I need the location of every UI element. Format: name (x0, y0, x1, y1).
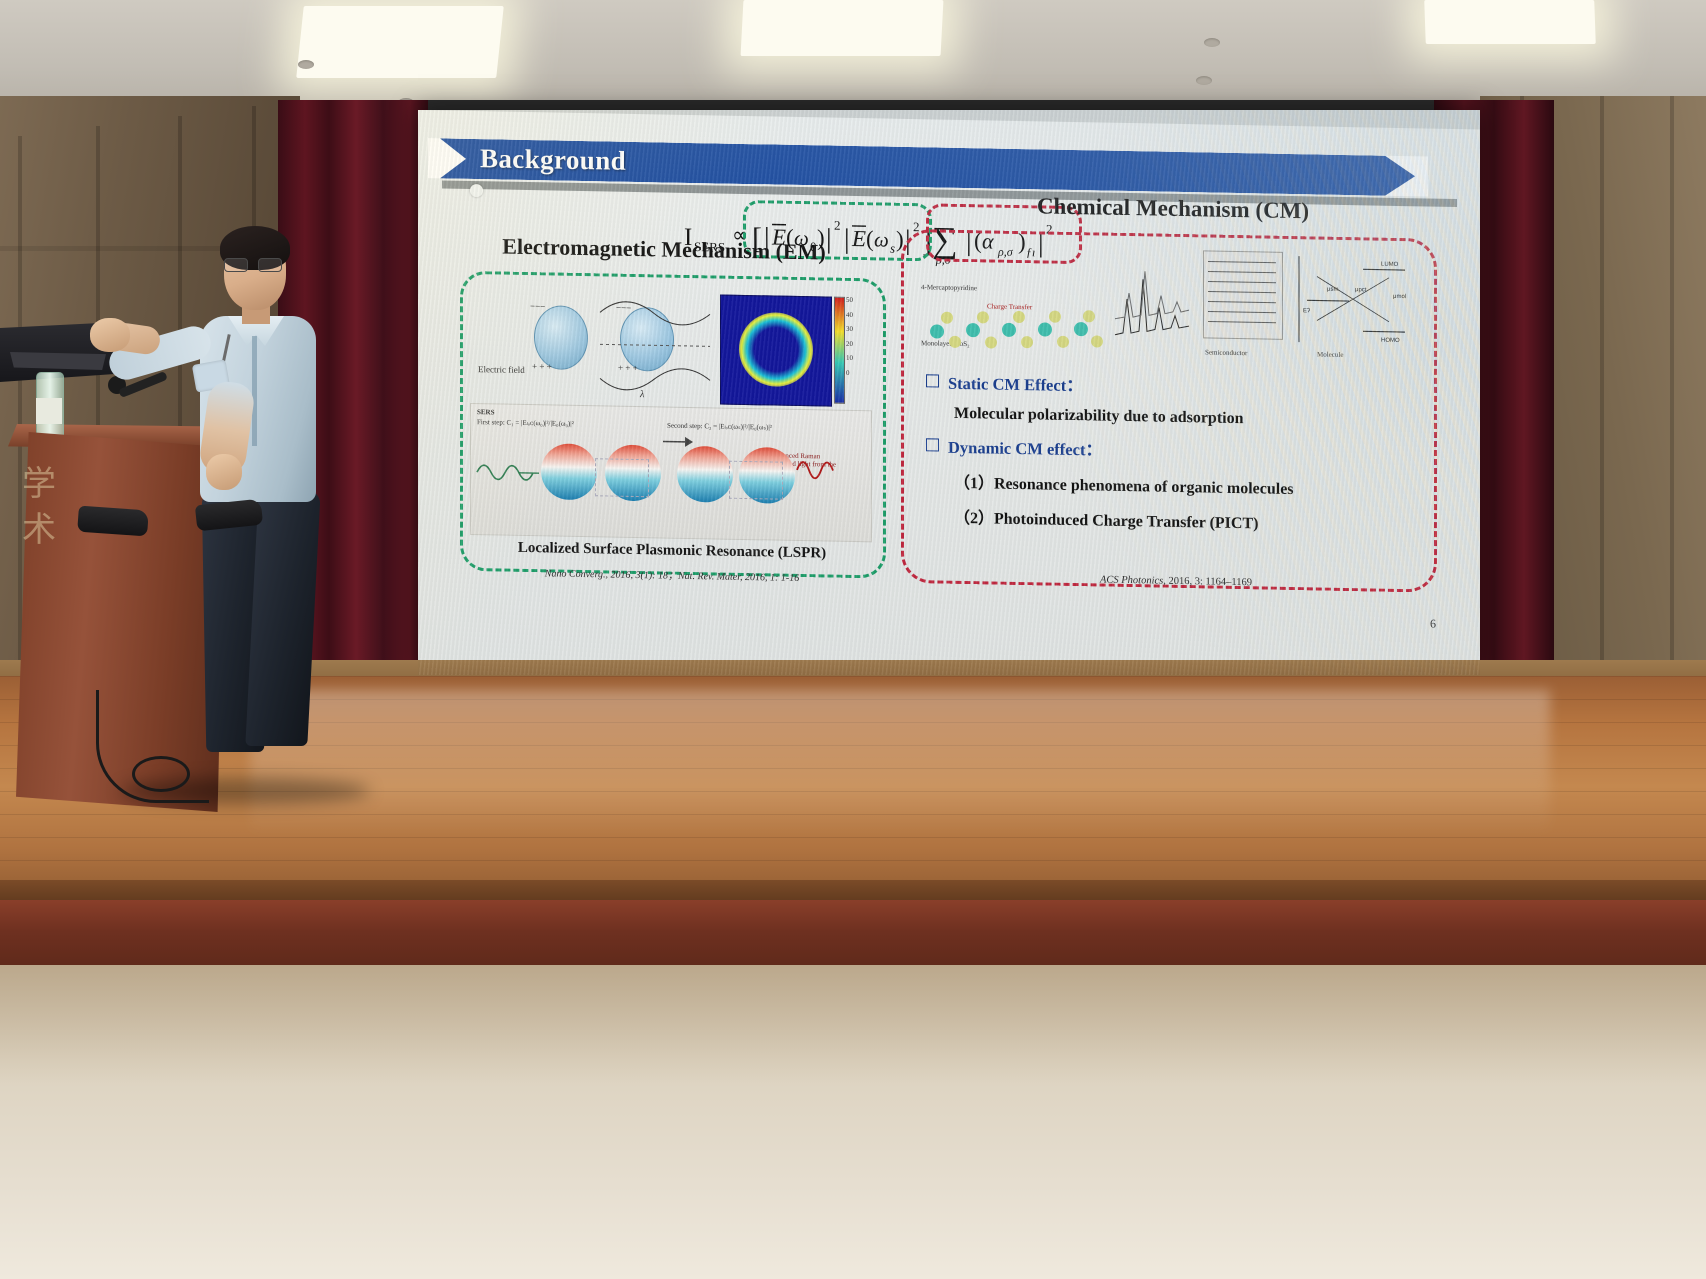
presenter-right-hand (206, 454, 242, 490)
presentation-slide: Background I SERS ∝ [ | E ( ω 0 ) (418, 110, 1480, 675)
svg-text:μsm: μsm (1327, 287, 1338, 293)
ceiling-light (741, 0, 944, 56)
cm-reference-detail: , 2016, 3: 1164–1169 (1163, 576, 1252, 589)
device-schematic (1203, 250, 1283, 339)
presenter-glasses (224, 258, 286, 271)
field-heatmap (720, 295, 832, 407)
svg-text:Eʔ: Eʔ (1303, 308, 1310, 314)
molecule-label: Molecule (1317, 350, 1343, 358)
first-step-label: First step: C₁ = |Eₗₒᴄ(ω₀)|²/|E₀(ω₀)|² (477, 418, 574, 428)
em-figure-two-step-enhancement: SERS First step: C₁ = |Eₗₒᴄ(ω₀)|²/|E₀(ω₀… (470, 403, 872, 542)
presenter-shoe (77, 506, 149, 537)
field-wave (598, 292, 718, 394)
energy-level-diagram: LUMO HOMO Eʔ μsm μpct μmol (1293, 250, 1418, 348)
heatmap-colorbar (834, 297, 845, 404)
cm-bullet-list: Static CM Effect： Molecular polarizabili… (926, 369, 1426, 547)
semiconductor-label: Semiconductor (1205, 348, 1247, 357)
bullet-dynamic-item-1: （1）Resonance phenomena of organic molecu… (954, 469, 1426, 502)
cm-figure-group: 4-Mercaptopyridine Charge Transfer Monol… (913, 239, 1423, 373)
ceiling-spotlight (298, 60, 314, 69)
svg-text:μmol: μmol (1393, 294, 1406, 300)
checkbox-icon (926, 438, 939, 451)
conference-room-photo: Background I SERS ∝ [ | E ( ω 0 ) (0, 0, 1706, 1279)
bullet-dynamic-cm: Dynamic CM effect： (926, 433, 1426, 466)
water-bottle-label (36, 398, 62, 424)
ceiling-spotlight (1196, 76, 1212, 85)
audience-floor-shading (0, 965, 1706, 1085)
incident-wave (475, 448, 541, 497)
raman-spectrum-thumbnail (1113, 249, 1191, 340)
slide-page-number: 6 (1430, 617, 1436, 632)
stage-floor-reflection (250, 690, 1550, 900)
electric-field-label: Electric field (478, 364, 525, 375)
svg-text:HOMO: HOMO (1381, 338, 1400, 344)
wavelength-label: λ (640, 389, 644, 400)
presenter-shirt-placket (252, 336, 257, 446)
presenter-legs (204, 490, 324, 760)
floor-cable-loop (132, 756, 190, 792)
colorbar-tick-labels: 50403020100 (846, 293, 853, 380)
header-dot (470, 184, 483, 197)
cm-reference-journal: ACS Photonics (1100, 574, 1163, 586)
mos2-lattice (923, 301, 1108, 354)
ceiling-light (1424, 0, 1596, 44)
scattered-wave (795, 450, 849, 491)
sers-label: SERS (477, 408, 495, 416)
slide-title: Background (480, 143, 626, 177)
laptop-keyboard (10, 352, 106, 370)
checkbox-icon (926, 374, 939, 387)
ceiling-spotlight (1204, 38, 1220, 47)
projection-screen: Background I SERS ∝ [ | E ( ω 0 ) (418, 110, 1480, 675)
mercaptopyridine-label: 4-Mercaptopyridine (921, 283, 977, 292)
em-figure-lspr-diagram: Electric field −−− + + + −−− + + + λ 504… (470, 286, 870, 408)
ceiling-light (296, 6, 504, 78)
arrow-between-steps (661, 425, 697, 460)
svg-text:LUMO: LUMO (1381, 262, 1399, 268)
bullet-static-cm-detail: Molecular polarizability due to adsorpti… (954, 405, 1426, 432)
presenter-left-hand (90, 318, 130, 352)
svg-text:μpct: μpct (1355, 287, 1367, 293)
bullet-dynamic-item-2: （2）Photoinduced Charge Transfer (PICT) (954, 504, 1426, 537)
